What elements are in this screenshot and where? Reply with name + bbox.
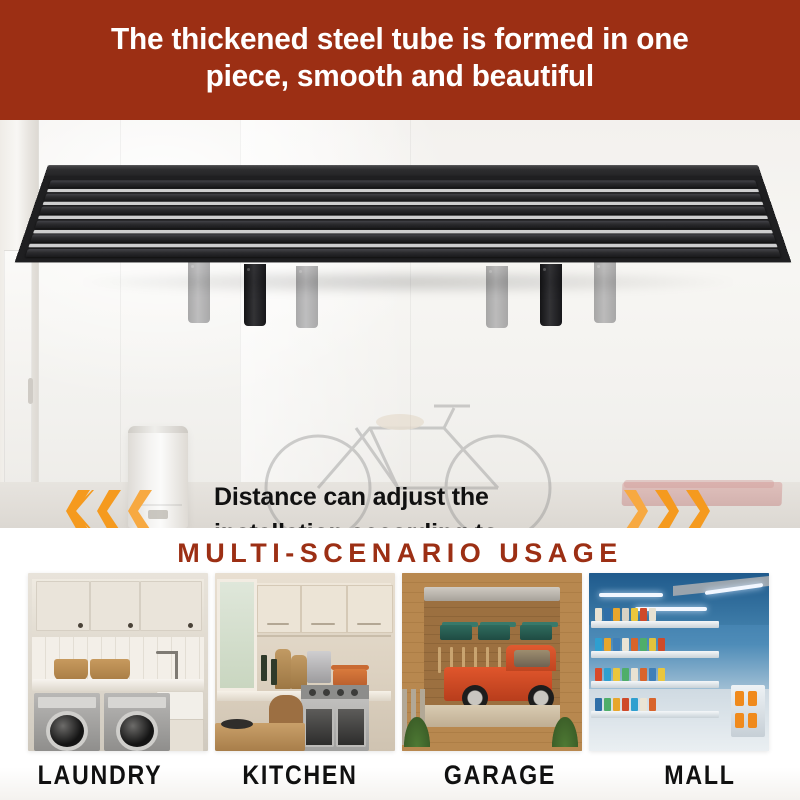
header-title-line1: The thickened steel tube is formed in on… — [111, 21, 689, 56]
mall-thumbnail — [589, 573, 769, 751]
truck-window — [514, 650, 550, 667]
scenario-card-garage[interactable] — [402, 573, 582, 751]
product-box — [613, 698, 620, 711]
burner-knob — [351, 689, 358, 696]
hanging-tool — [438, 647, 441, 673]
shrub — [552, 717, 578, 747]
shrub — [404, 717, 430, 747]
roller-door — [424, 587, 560, 601]
shelf-panel — [14, 165, 792, 264]
store-shelf — [591, 621, 719, 628]
shelf-slat-gap — [47, 189, 759, 192]
burner-knob — [323, 689, 330, 696]
product-box — [658, 668, 665, 681]
shelf-slat-gap — [38, 216, 768, 219]
right-arrow-group — [620, 488, 710, 528]
wine-bottle — [271, 659, 277, 685]
chevron-right-icon — [651, 488, 679, 528]
product-box — [622, 668, 629, 681]
cutting-board — [291, 655, 307, 689]
product-box — [622, 638, 629, 651]
shelf-slat-gap — [28, 244, 777, 248]
window — [217, 579, 257, 691]
product-box — [604, 668, 611, 681]
product-box — [649, 608, 656, 621]
scenario-title: MULTI-SCENARIO USAGE — [0, 538, 800, 569]
scenario-card-mall[interactable] — [589, 573, 769, 751]
stock-pot — [307, 651, 331, 683]
header-title-line2: piece, smooth and beautiful — [206, 58, 594, 93]
burner-knob — [337, 689, 344, 696]
shelf-slat — [40, 207, 767, 214]
wine-bottle — [261, 655, 267, 681]
washing-machine — [34, 693, 100, 751]
laundry-thumbnail — [28, 573, 208, 751]
oven-door — [304, 707, 334, 747]
cabinet-pull — [357, 623, 381, 625]
control-panel — [108, 697, 166, 708]
scenario-card-list — [28, 573, 790, 753]
shelf-slat-gap — [42, 202, 763, 205]
callout-line2: installation according to — [214, 519, 498, 529]
storage-bin — [440, 625, 472, 640]
scenario-label-row: LAUNDRY KITCHEN GARAGE MALL — [0, 760, 800, 800]
cabinet-door — [347, 585, 393, 633]
cabinet-knob — [188, 623, 193, 628]
product-box — [604, 638, 611, 651]
store-shelf — [591, 711, 719, 718]
product-box — [748, 713, 757, 728]
chevron-left-icon — [97, 488, 125, 528]
storage-bin — [478, 625, 510, 640]
callout-row: Distance can adjust the installation acc… — [0, 480, 800, 528]
header-banner: The thickened steel tube is formed in on… — [0, 0, 800, 120]
shelf-slat — [25, 249, 781, 257]
store-shelf — [591, 681, 719, 688]
scenario-card-laundry[interactable] — [28, 573, 208, 751]
door-handle — [28, 378, 33, 404]
shelf-slat — [44, 193, 762, 200]
shelf-slat — [49, 180, 758, 187]
heater-cap — [128, 426, 188, 433]
product-box — [613, 668, 620, 681]
faucet — [175, 651, 178, 679]
oven-door — [336, 707, 366, 747]
shelf-slat — [30, 235, 776, 243]
product-box — [649, 638, 656, 651]
product-box — [631, 668, 638, 681]
countertop — [32, 679, 204, 691]
scenario-label-laundry: LAUNDRY — [14, 760, 186, 800]
product-box — [622, 698, 629, 711]
product-box — [649, 668, 656, 681]
chevron-left-icon — [128, 488, 156, 528]
shelf-slat — [35, 220, 771, 228]
ceiling-light — [599, 593, 663, 597]
callout-line1: Distance can adjust the — [214, 483, 489, 511]
scenario-label-garage: GARAGE — [414, 760, 586, 800]
storage-bin — [520, 625, 552, 640]
product-box — [595, 698, 602, 711]
product-box — [604, 608, 611, 621]
product-infographic: The thickened steel tube is formed in on… — [0, 0, 800, 800]
product-box — [640, 638, 647, 651]
product-box — [631, 608, 638, 621]
product-box — [735, 691, 744, 706]
burner-knob — [309, 689, 316, 696]
kitchen-thumbnail — [215, 573, 395, 751]
cabinet-door — [301, 585, 347, 633]
product-box — [658, 638, 665, 651]
product-shelf — [48, 165, 758, 385]
product-box — [748, 691, 757, 706]
dryer — [104, 693, 170, 751]
range-oven — [301, 685, 369, 751]
product-box — [595, 608, 602, 621]
machine-door — [46, 711, 88, 751]
cabinet-knob — [128, 623, 133, 628]
cabinet-pull — [267, 623, 289, 625]
product-box — [595, 668, 602, 681]
callout-text: Distance can adjust the installation acc… — [214, 480, 614, 528]
header-title: The thickened steel tube is formed in on… — [111, 21, 689, 94]
shelving-unit — [591, 621, 719, 741]
shelf-shadow — [78, 269, 738, 295]
control-panel — [38, 697, 96, 708]
chevron-right-icon — [682, 488, 710, 528]
scenario-card-kitchen[interactable] — [215, 573, 395, 751]
scenario-section: MULTI-SCENARIO USAGE — [0, 528, 800, 800]
store-shelf — [591, 651, 719, 658]
endcap-display — [731, 685, 765, 737]
product-box — [613, 608, 620, 621]
shelf-slat-gap — [33, 230, 773, 233]
garage-thumbnail — [402, 573, 582, 751]
cabinet-knob — [78, 623, 83, 628]
product-box — [640, 668, 647, 681]
product-box — [622, 608, 629, 621]
scenario-label-mall: MALL — [614, 760, 786, 800]
product-box — [595, 638, 602, 651]
chevron-right-icon — [620, 488, 648, 528]
wicker-basket — [90, 659, 130, 681]
cabinet-pull — [311, 623, 335, 625]
cabinet-door — [257, 585, 301, 633]
door-frame — [0, 120, 39, 528]
chevron-left-icon — [66, 488, 94, 528]
scenario-label-kitchen: KITCHEN — [214, 760, 386, 800]
hero-scene: Distance can adjust the installation acc… — [0, 120, 800, 528]
left-arrow-group — [66, 488, 156, 528]
product-box — [735, 713, 744, 728]
product-box — [613, 638, 620, 651]
cutting-board — [275, 649, 291, 689]
vintage-red-truck — [444, 651, 560, 711]
garage-floor — [424, 705, 560, 727]
product-box — [631, 638, 638, 651]
product-box — [649, 698, 656, 711]
shelf-slats — [15, 176, 792, 263]
dinner-plate — [221, 719, 253, 729]
garage-opening — [424, 599, 560, 727]
product-box — [640, 698, 647, 711]
product-box — [640, 608, 647, 621]
machine-door — [116, 711, 158, 751]
product-box — [604, 698, 611, 711]
wicker-basket — [54, 659, 88, 681]
product-box — [631, 698, 638, 711]
